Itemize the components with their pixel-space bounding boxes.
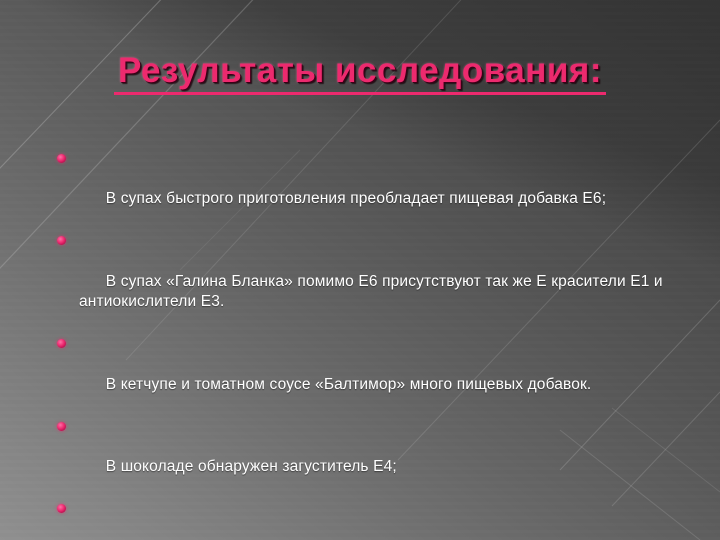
ring-bullet-icon	[57, 422, 66, 431]
ring-bullet-icon	[57, 236, 66, 245]
list-item: В супах быстрого приготовления преоблада…	[54, 148, 666, 230]
bullet-list: В супах быстрого приготовления преоблада…	[54, 148, 666, 540]
list-item: В шоколаде обнаружен загуститель Е4;	[54, 416, 666, 498]
ring-bullet-icon	[57, 339, 66, 348]
ring-bullet-icon	[57, 154, 66, 163]
list-item: Во всех приправах – добавлен усилитель в…	[54, 498, 666, 540]
list-item-text: В супах быстрого приготовления преоблада…	[106, 190, 606, 207]
list-item-text: В супах «Галина Бланка» помимо Е6 присут…	[79, 273, 667, 311]
ring-bullet-icon	[57, 504, 66, 513]
slide-title: Результаты исследования:	[0, 53, 720, 95]
list-item-text: В кетчупе и томатном соусе «Балтимор» мн…	[106, 376, 592, 393]
list-item: В кетчупе и томатном соусе «Балтимор» мн…	[54, 333, 666, 415]
slide-canvas: Результаты исследования: В супах быстрог…	[0, 0, 720, 540]
slide-title-text: Результаты исследования:	[114, 53, 606, 95]
list-item-text: В шоколаде обнаружен загуститель Е4;	[106, 458, 397, 475]
list-item: В супах «Галина Бланка» помимо Е6 присут…	[54, 230, 666, 333]
